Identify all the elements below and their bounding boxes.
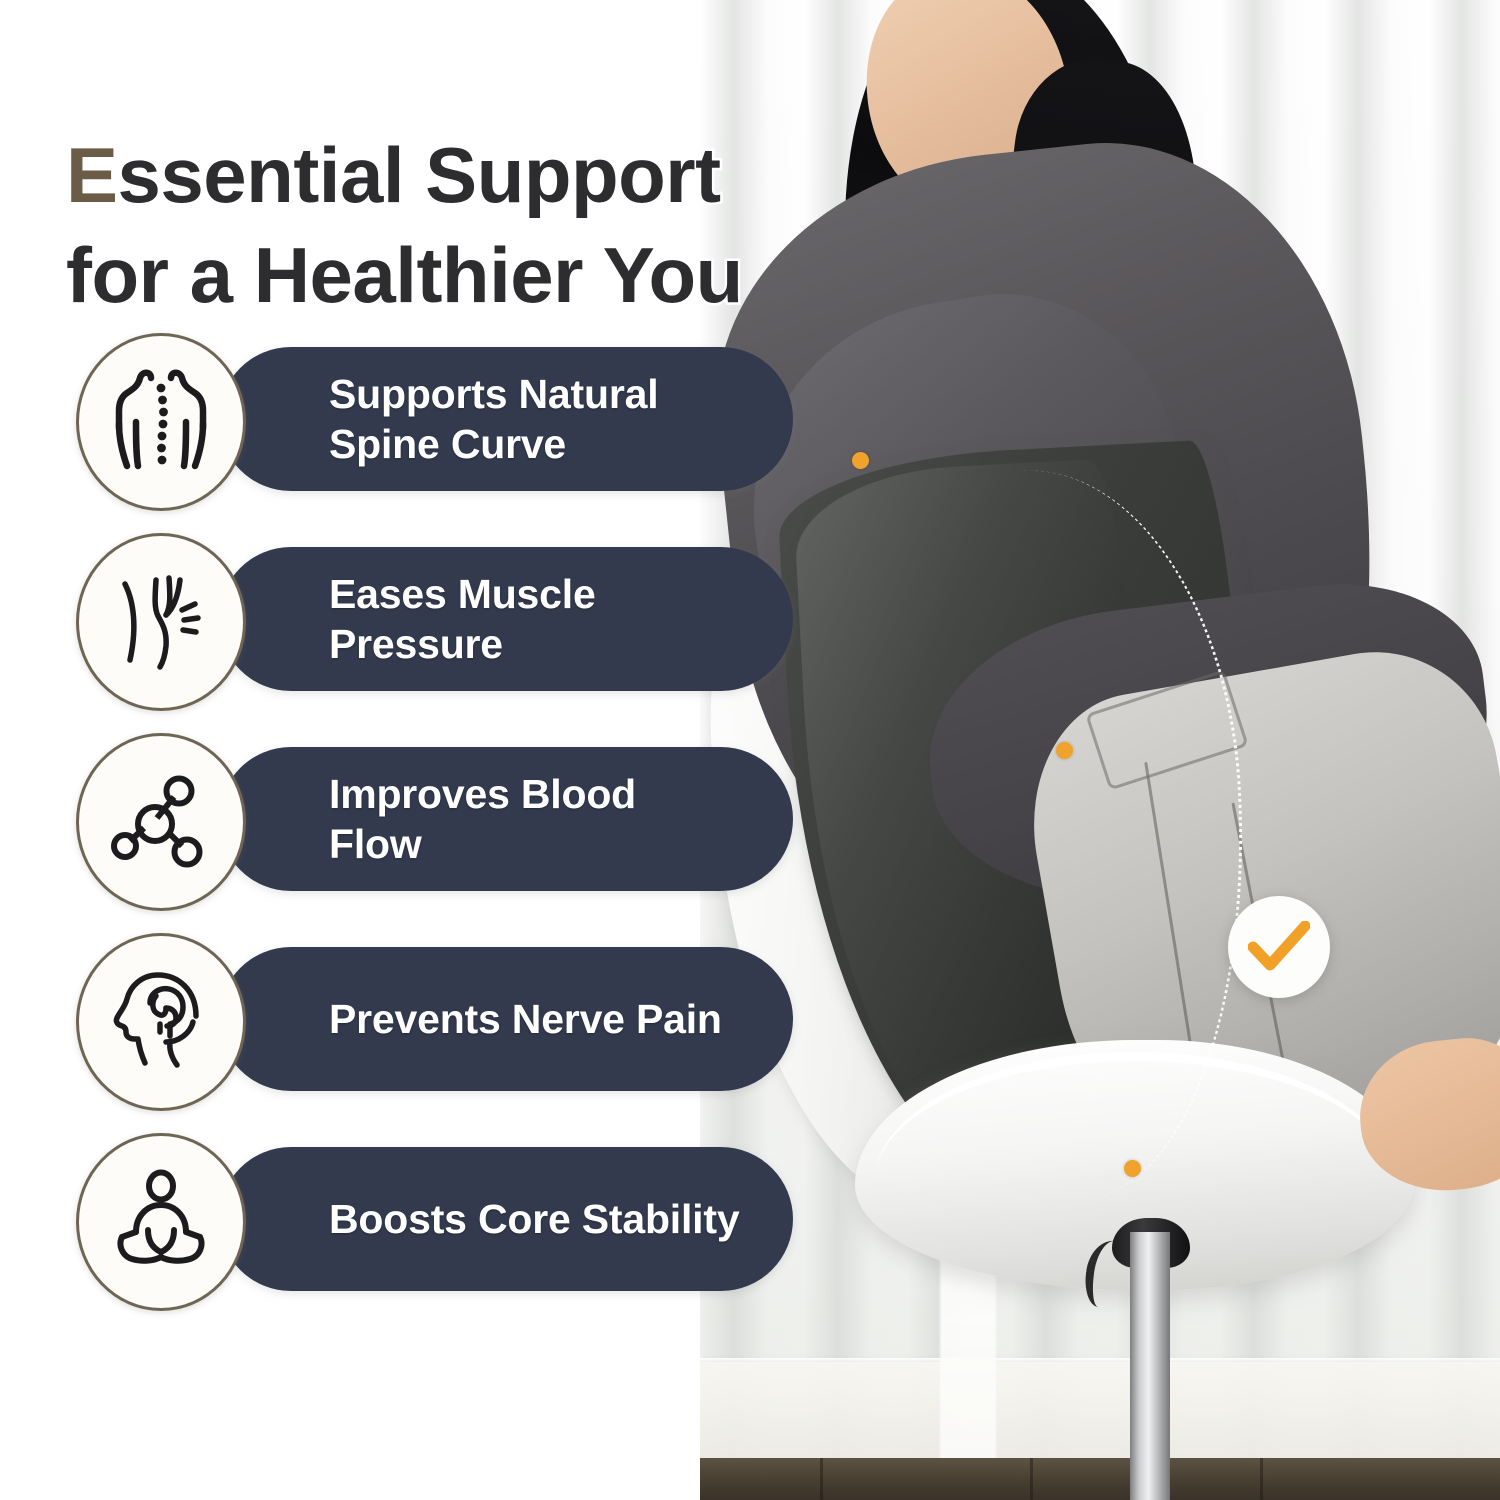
floor-plank-seam xyxy=(820,1458,823,1500)
floor-plank-seam xyxy=(1030,1458,1033,1500)
feature-item-core-stability[interactable]: Boosts Core Stability xyxy=(66,1133,746,1333)
headline-line-1-rest: ssential Support xyxy=(118,131,721,219)
feature-label: Eases Muscle Pressure xyxy=(329,569,596,669)
headline-line-1: Essential Support xyxy=(66,126,966,226)
feature-label: Prevents Nerve Pain xyxy=(329,994,722,1044)
contour-marker-dot xyxy=(1056,742,1073,759)
feature-label: Improves Blood Flow xyxy=(329,769,636,869)
meditation-lotus-icon xyxy=(108,1166,214,1278)
feature-pill[interactable]: Eases Muscle Pressure xyxy=(219,547,793,691)
page-title: Essential Support for a Healthier You xyxy=(66,126,966,326)
feature-icon-circle xyxy=(76,933,246,1111)
contour-marker-dot xyxy=(1124,1160,1141,1177)
headline-line-2: for a Healthier You xyxy=(66,226,966,326)
spine-back-icon xyxy=(108,366,214,478)
feature-pill[interactable]: Boosts Core Stability xyxy=(219,1147,793,1291)
check-badge xyxy=(1228,896,1330,998)
checkmark-icon xyxy=(1248,921,1310,973)
infographic-canvas: Essential Support for a Healthier You Su… xyxy=(0,0,1500,1500)
feature-icon-circle xyxy=(76,333,246,511)
blood-flow-molecule-icon xyxy=(108,766,214,878)
feature-label: Boosts Core Stability xyxy=(329,1194,739,1244)
feature-item-muscle-pressure[interactable]: Eases Muscle Pressure xyxy=(66,533,746,733)
feature-icon-circle xyxy=(76,733,246,911)
feature-list: Supports Natural Spine Curve xyxy=(66,333,746,1333)
feature-item-nerve-pain[interactable]: Prevents Nerve Pain xyxy=(66,933,746,1133)
feature-item-blood-flow[interactable]: Improves Blood Flow xyxy=(66,733,746,933)
contour-marker-dot xyxy=(852,452,869,469)
feature-label: Supports Natural Spine Curve xyxy=(329,369,658,469)
feature-icon-circle xyxy=(76,533,246,711)
curtain-hem-band xyxy=(700,1362,1500,1458)
feature-icon-circle xyxy=(76,1133,246,1311)
feature-pill[interactable]: Supports Natural Spine Curve xyxy=(219,347,793,491)
feature-pill[interactable]: Improves Blood Flow xyxy=(219,747,793,891)
feature-item-spine-curve[interactable]: Supports Natural Spine Curve xyxy=(66,333,746,533)
floor-plank-seam xyxy=(1260,1458,1263,1500)
feature-pill[interactable]: Prevents Nerve Pain xyxy=(219,947,793,1091)
chair-gas-lift-column xyxy=(1130,1232,1170,1500)
muscle-relief-icon xyxy=(108,566,214,678)
head-brain-nerve-icon xyxy=(108,966,214,1078)
headline-accent-letter: E xyxy=(66,131,118,219)
